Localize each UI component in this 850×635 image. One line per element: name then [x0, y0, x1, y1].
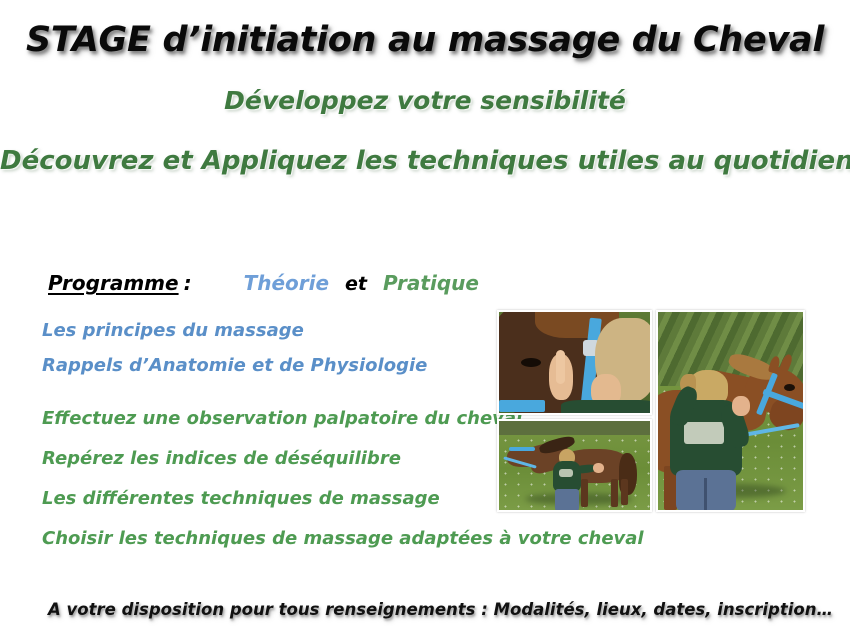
photo-collage — [495, 308, 807, 514]
jeans-seam — [704, 478, 707, 512]
photo-massage-full-body — [497, 419, 652, 512]
subtitle-primary: Développez votre sensibilité — [0, 86, 850, 115]
programme-conjunction: et — [345, 273, 367, 295]
horse-leg — [621, 479, 628, 505]
photo-canvas — [658, 312, 803, 510]
horse-leg — [611, 479, 618, 507]
horse-eye — [521, 358, 541, 367]
footer-contact-note: A votre disposition pour tous renseignem… — [48, 600, 833, 619]
photo-horse-head-closeup — [497, 310, 652, 415]
programme-theorie-label: Théorie — [244, 271, 329, 295]
programme-colon: : — [184, 271, 192, 295]
horse-eye — [784, 384, 795, 391]
person-finger — [556, 350, 565, 384]
halter-lower — [499, 400, 545, 412]
shirt-logo — [559, 469, 573, 477]
programme-label: Programme — [48, 271, 179, 295]
person-hand — [593, 463, 604, 473]
person-jeans — [555, 489, 579, 512]
shirt-logo — [684, 422, 724, 444]
page-title: STAGE d’initiation au massage du Cheval — [0, 20, 850, 60]
subtitle-secondary: Découvrez et Appliquez les techniques ut… — [0, 146, 850, 176]
photo-massage-encolure — [656, 310, 805, 512]
horse-leg — [581, 479, 588, 507]
list-item: Les principes du massage — [42, 322, 427, 340]
person-shirt — [561, 400, 652, 415]
programme-pratique-label: Pratique — [383, 271, 479, 295]
treeline — [499, 421, 650, 435]
photo-canvas — [499, 312, 650, 413]
halter-strap — [509, 447, 535, 451]
list-item: Rappels d’Anatomie et de Physiologie — [42, 357, 427, 375]
person-hand — [732, 396, 750, 416]
theory-list: Les principes du massage Rappels d’Anato… — [42, 322, 427, 392]
programme-heading: Programme : Théorie et Pratique — [48, 271, 479, 295]
list-item: Choisir les techniques de massage adapté… — [42, 530, 644, 548]
poster-slide: STAGE d’initiation au massage du Cheval … — [0, 0, 850, 635]
photo-canvas — [499, 421, 650, 510]
